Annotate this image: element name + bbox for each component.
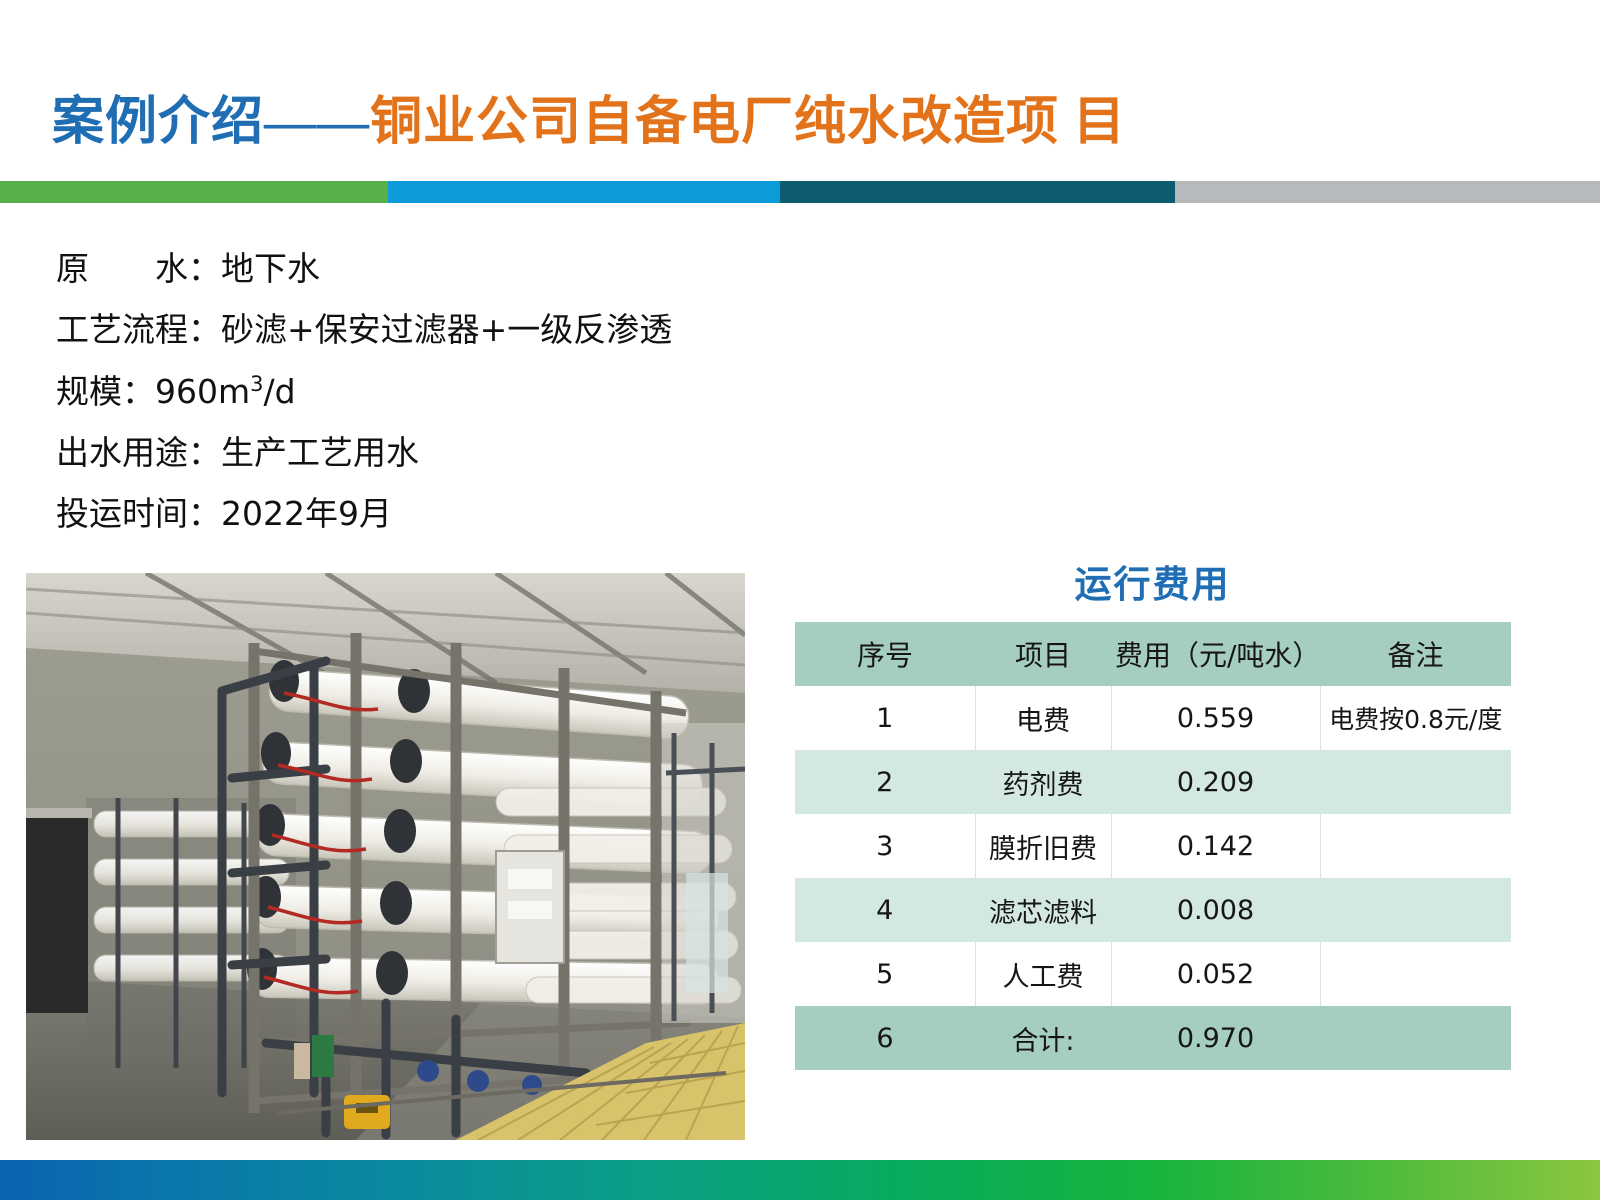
cell-item: 合计: [975,1006,1111,1070]
spec-label-effluent-use: 出水用途： [56,433,221,472]
cell-fee: 0.052 [1111,942,1320,1006]
cell-note [1320,1006,1511,1070]
cell-fee: 0.008 [1111,878,1320,942]
cell-fee: 0.209 [1111,750,1320,814]
table-header-row: 序号 项目 费用（元/吨水） 备注 [795,622,1511,686]
table-row: 4 滤芯滤料 0.008 [795,878,1511,942]
spec-value-process: 砂滤+保安过滤器+一级反渗透 [221,310,672,349]
accent-segment-green [0,181,388,203]
cell-fee: 0.142 [1111,814,1320,878]
table-row: 5 人工费 0.052 [795,942,1511,1006]
spec-row-commission-date: 投运时间：2022年9月 [56,497,756,530]
cell-item: 人工费 [975,942,1111,1006]
column-header-item: 项目 [975,622,1111,686]
spec-label-process: 工艺流程： [56,310,221,349]
accent-segment-gray [1175,181,1600,203]
page-title: 案例介绍——铜业公司自备电厂纯水改造项 目 [52,94,1126,151]
cell-item: 膜折旧费 [975,814,1111,878]
cell-no: 1 [795,686,975,750]
cell-no: 6 [795,1006,975,1070]
spec-value-capacity-tail: /d [264,372,296,411]
cell-no: 5 [795,942,975,1006]
spec-value-commission-date: 2022年9月 [221,494,392,533]
site-photo [26,573,745,1140]
cell-item: 药剂费 [975,750,1111,814]
spec-value-effluent-use: 生产工艺用水 [221,433,419,472]
accent-bar [0,181,1600,203]
spec-row-process: 工艺流程：砂滤+保安过滤器+一级反渗透 [56,313,756,346]
spec-row-raw-water: 原 水：地下水 [56,252,756,285]
spec-label-commission-date: 投运时间： [56,494,221,533]
site-photo-illustration [26,573,745,1140]
cost-table-title: 运行费用 [795,554,1510,608]
column-header-fee: 费用（元/吨水） [1111,622,1320,686]
spec-label-raw-water: 原 水： [56,249,221,288]
operating-cost-table: 序号 项目 费用（元/吨水） 备注 1 电费 0.559 电费按0.8元/度 2… [795,622,1511,1070]
accent-segment-teal [780,181,1175,203]
cell-note [1320,942,1511,1006]
cell-no: 3 [795,814,975,878]
column-header-no: 序号 [795,622,975,686]
footer-gradient-bar [0,1160,1600,1200]
spec-label-capacity: 规模： [56,372,155,411]
cell-note [1320,878,1511,942]
cell-note [1320,750,1511,814]
cell-note: 电费按0.8元/度 [1320,686,1511,750]
page-title-prefix: 案例介绍—— [52,94,370,151]
cell-fee: 0.970 [1111,1006,1320,1070]
table-row-total: 6 合计: 0.970 [795,1006,1511,1070]
cell-item: 电费 [975,686,1111,750]
cell-item: 滤芯滤料 [975,878,1111,942]
spec-value-raw-water: 地下水 [221,249,320,288]
cell-no: 2 [795,750,975,814]
accent-segment-blue [388,181,780,203]
table-row: 1 电费 0.559 电费按0.8元/度 [795,686,1511,750]
spec-row-effluent-use: 出水用途：生产工艺用水 [56,436,756,469]
cell-fee: 0.559 [1111,686,1320,750]
column-header-note: 备注 [1320,622,1511,686]
spec-value-capacity-base: 960m [155,372,250,411]
cell-no: 4 [795,878,975,942]
spec-value-capacity-superscript: 3 [250,372,263,396]
cell-note [1320,814,1511,878]
spec-row-capacity: 规模：960m3/d [56,374,756,408]
table-row: 3 膜折旧费 0.142 [795,814,1511,878]
page-title-main: 铜业公司自备电厂纯水改造项 目 [370,94,1126,151]
table-row: 2 药剂费 0.209 [795,750,1511,814]
spec-list: 原 水：地下水 工艺流程：砂滤+保安过滤器+一级反渗透 规模：960m3/d 出… [56,252,756,558]
